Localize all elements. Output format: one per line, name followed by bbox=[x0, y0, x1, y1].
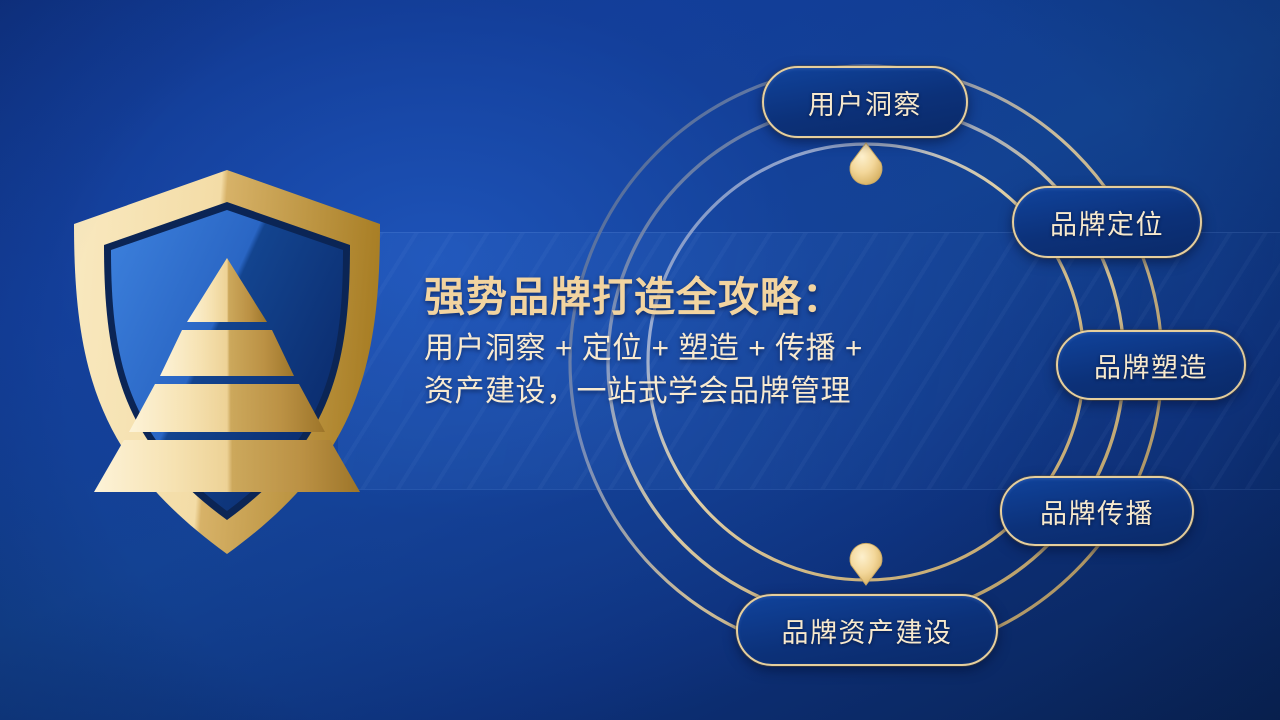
cycle-node-label: 用户洞察 bbox=[808, 83, 922, 122]
cycle-node-user-insight[interactable]: 用户洞察 bbox=[762, 66, 968, 138]
headline-block: 强势品牌打造全攻略： 用户洞察 + 定位 + 塑造 + 传播 + 资产建设，一站… bbox=[424, 272, 1044, 413]
cycle-node-brand-shaping[interactable]: 品牌塑造 bbox=[1056, 330, 1246, 400]
cycle-node-brand-communication[interactable]: 品牌传播 bbox=[1000, 476, 1194, 546]
ring-marker-top bbox=[850, 143, 882, 185]
subtitle-line-2: 资产建设，一站式学会品牌管理 bbox=[424, 371, 1044, 414]
subtitle-line-1: 用户洞察 + 定位 + 塑造 + 传播 + bbox=[424, 328, 1044, 371]
cycle-node-label: 品牌资产建设 bbox=[782, 611, 953, 650]
pyramid-tier-2 bbox=[160, 330, 294, 376]
cycle-node-label: 品牌塑造 bbox=[1094, 346, 1208, 385]
pyramid-tier-3 bbox=[129, 384, 325, 432]
shield-pyramid-emblem bbox=[62, 162, 392, 562]
ring-marker-bottom bbox=[850, 543, 882, 585]
cycle-node-label: 品牌定位 bbox=[1050, 203, 1164, 242]
cycle-node-label: 品牌传播 bbox=[1040, 492, 1154, 531]
pyramid-tier-4 bbox=[94, 440, 360, 492]
page-title: 强势品牌打造全攻略： bbox=[424, 272, 1044, 322]
infographic-canvas: 强势品牌打造全攻略： 用户洞察 + 定位 + 塑造 + 传播 + 资产建设，一站… bbox=[0, 0, 1280, 720]
cycle-node-brand-asset-building[interactable]: 品牌资产建设 bbox=[736, 594, 998, 666]
cycle-node-brand-positioning[interactable]: 品牌定位 bbox=[1012, 186, 1202, 258]
